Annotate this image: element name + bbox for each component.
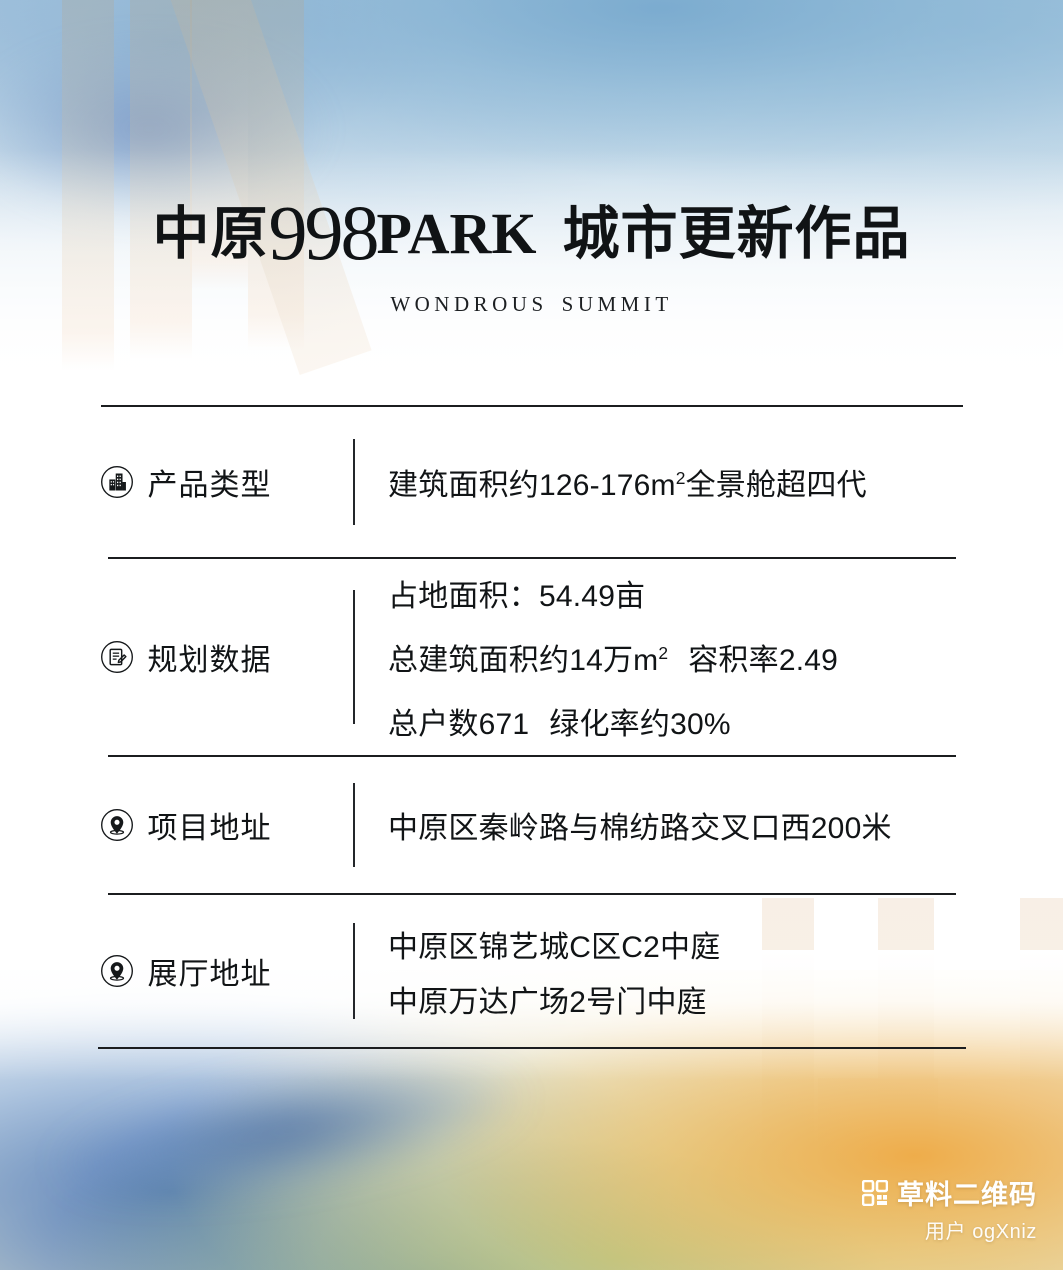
table-row-showroom-address: 展厅地址 中原区锦艺城C区C2中庭 中原万达广场2号门中庭 <box>0 895 1063 1047</box>
poster-content: 中原998PARK城市更新作品 WONDROUSSUMMIT <box>0 0 1063 1270</box>
value-line: 建筑面积约126-176m2全景舱超四代 <box>388 460 1063 504</box>
value-text-a: 建筑面积约126-176m <box>388 469 676 502</box>
row-value-project-address: 中原区秦岭路与棉纺路交叉口西200米 <box>355 803 1063 847</box>
value-text-b: 绿化率约30% <box>549 708 730 741</box>
row-value-product-type: 建筑面积约126-176m2全景舱超四代 <box>355 460 1063 504</box>
value-line: 占地面积：54.49亩 <box>388 571 1063 615</box>
superscript-two: 2 <box>658 643 668 663</box>
superscript-two: 2 <box>676 468 686 488</box>
building-icon <box>100 465 134 499</box>
table-row-project-address: 项目地址 中原区秦岭路与棉纺路交叉口西200米 <box>0 757 1063 893</box>
qrcode-icon <box>862 1180 888 1206</box>
table-row-planning-data: 规划数据 占地面积：54.49亩 总建筑面积约14万m2容积率2.49 总户数6… <box>0 559 1063 755</box>
watermark: 草料二维码 用户 ogXniz <box>862 1173 1037 1244</box>
value-text-b: 全景舱超四代 <box>686 469 867 502</box>
value-text-b: 容积率2.49 <box>688 644 838 677</box>
value-text-a: 总户数671 <box>388 708 529 741</box>
document-edit-icon <box>100 640 134 674</box>
title-park: PARK <box>376 201 536 266</box>
divider-bottom <box>98 1047 966 1049</box>
label-showroom-address: 展厅地址 <box>148 949 272 993</box>
table-row-product-type: 产品类型 建筑面积约126-176m2全景舱超四代 <box>0 407 1063 557</box>
label-product-type: 产品类型 <box>148 460 272 504</box>
value-line: 总建筑面积约14万m2容积率2.49 <box>388 635 1063 679</box>
row-label-showroom-address: 展厅地址 <box>0 949 353 993</box>
subtitle-word-1: WONDROUS <box>390 292 547 316</box>
subtitle-word-2: SUMMIT <box>562 292 673 316</box>
watermark-brand-row: 草料二维码 <box>862 1173 1037 1212</box>
row-label-planning-data: 规划数据 <box>0 635 353 679</box>
location-pin-icon <box>100 808 134 842</box>
title-cn-prefix: 中原 <box>152 202 268 266</box>
hero-block: 中原998PARK城市更新作品 WONDROUSSUMMIT <box>0 188 1063 317</box>
row-label-project-address: 项目地址 <box>0 803 353 847</box>
value-line: 总户数671绿化率约30% <box>388 699 1063 743</box>
row-value-showroom-address: 中原区锦艺城C区C2中庭 中原万达广场2号门中庭 <box>355 922 1063 1021</box>
value-line: 中原区锦艺城C区C2中庭 <box>388 922 1063 966</box>
title-cn-suffix: 城市更新作品 <box>563 202 911 266</box>
row-value-planning-data: 占地面积：54.49亩 总建筑面积约14万m2容积率2.49 总户数671绿化率… <box>355 571 1063 743</box>
title-number: 998 <box>268 189 376 276</box>
value-line: 中原万达广场2号门中庭 <box>388 977 1063 1021</box>
label-planning-data: 规划数据 <box>148 635 272 679</box>
page-title: 中原998PARK城市更新作品 <box>152 188 910 266</box>
watermark-user: 用户 ogXniz <box>862 1215 1037 1244</box>
location-pin-icon <box>100 954 134 988</box>
value-line: 中原区秦岭路与棉纺路交叉口西200米 <box>388 803 1063 847</box>
row-label-product-type: 产品类型 <box>0 460 353 504</box>
hero-subtitle: WONDROUSSUMMIT <box>0 292 1063 317</box>
watermark-brand: 草料二维码 <box>897 1173 1037 1212</box>
info-table: 产品类型 建筑面积约126-176m2全景舱超四代 <box>0 405 1063 1049</box>
value-text-a: 总建筑面积约14万m <box>388 644 658 677</box>
label-project-address: 项目地址 <box>148 803 272 847</box>
